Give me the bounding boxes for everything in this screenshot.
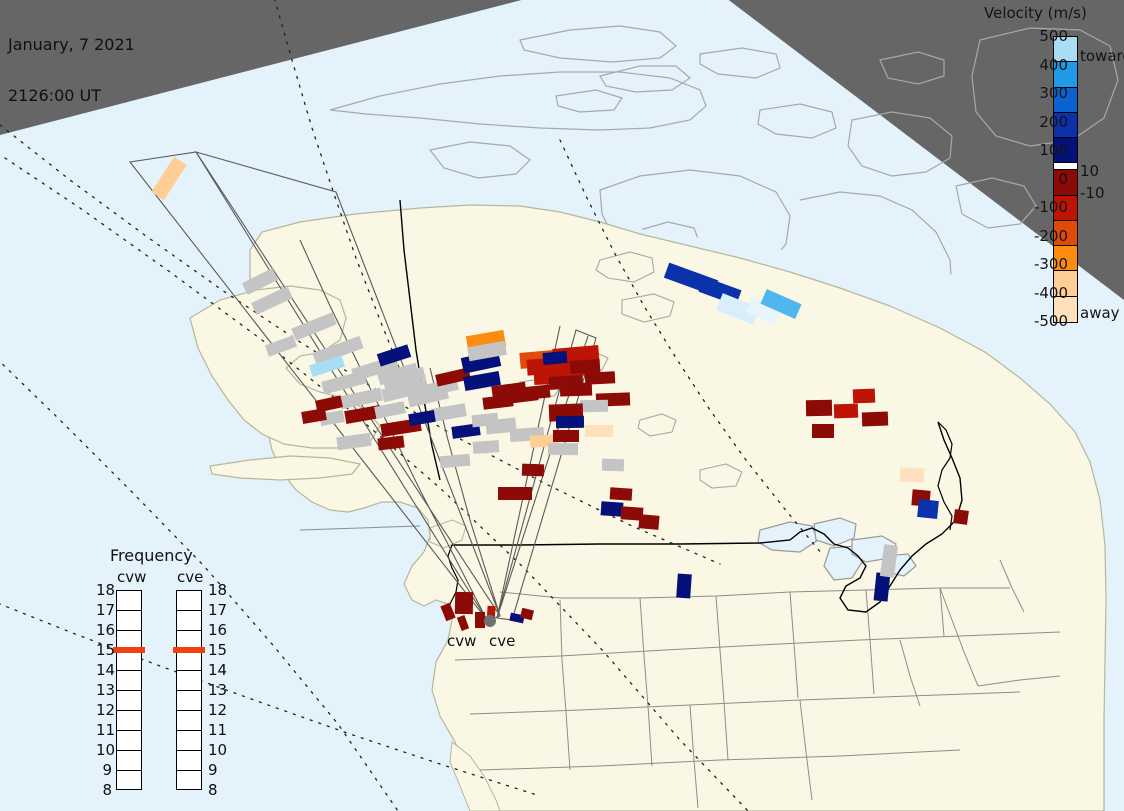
site-label-cve: cve [489, 632, 515, 650]
frequency-segment [117, 751, 141, 771]
velocity-cell [917, 499, 939, 519]
frequency-segment [177, 771, 201, 791]
velocity-legend-title: Velocity (m/s) [984, 4, 1087, 22]
velocity-label-away: away [1080, 304, 1120, 322]
frequency-tick-cvw-9: 9 [96, 761, 112, 779]
velocity-cell [475, 612, 485, 628]
frequency-tick-cvw-10: 10 [96, 741, 112, 759]
frequency-tick-cvw-16: 16 [96, 621, 112, 639]
velocity-cell [610, 487, 633, 501]
frequency-legend: Frequency cvw18171615141312111098cve1817… [96, 546, 246, 786]
frequency-tick-cve-8: 8 [208, 781, 218, 799]
velocity-tick--400: -400 [1034, 284, 1068, 302]
frequency-segment [117, 771, 141, 791]
velocity-tick-500: 500 [1039, 27, 1068, 45]
frequency-segment [117, 591, 141, 611]
frequency-tick-cvw-17: 17 [96, 601, 112, 619]
velocity-legend: Velocity (m/s) 5004003002001000-100-200-… [978, 2, 1124, 332]
velocity-cell [834, 404, 858, 419]
velocity-cell [556, 416, 584, 428]
frequency-segment [177, 691, 201, 711]
frequency-column-label-cvw: cvw [117, 568, 146, 586]
groundscatter-cell [548, 443, 578, 456]
velocity-cell [953, 509, 969, 525]
velocity-cell [853, 389, 875, 404]
frequency-tick-cve-15: 15 [208, 641, 227, 659]
velocity-label-minus10: -10 [1080, 184, 1105, 202]
frequency-tick-cve-10: 10 [208, 741, 227, 759]
velocity-tick--200: -200 [1034, 227, 1068, 245]
frequency-tick-cve-16: 16 [208, 621, 227, 639]
frequency-tick-cve-11: 11 [208, 721, 227, 739]
frequency-tick-cve-18: 18 [208, 581, 227, 599]
frequency-tick-cve-13: 13 [208, 681, 227, 699]
velocity-cell [543, 351, 568, 365]
frequency-segment [117, 731, 141, 751]
frequency-marker-cvw [113, 647, 145, 653]
frequency-segment [117, 691, 141, 711]
timestamp: January, 7 2021 2126:00 UT [8, 2, 135, 138]
timestamp-date: January, 7 2021 [8, 36, 135, 53]
frequency-marker-cve [173, 647, 205, 653]
frequency-segment [177, 611, 201, 631]
velocity-cell [812, 424, 834, 438]
velocity-tick-0: 0 [1058, 170, 1068, 188]
superdarn-map-view: January, 7 2021 2126:00 UT Velocity (m/s… [0, 0, 1124, 811]
velocity-cell [455, 592, 473, 614]
velocity-cell [601, 501, 624, 517]
frequency-segment [177, 711, 201, 731]
velocity-cell [900, 467, 925, 482]
site-label-cvw: cvw [447, 632, 476, 650]
frequency-tick-cve-14: 14 [208, 661, 227, 679]
frequency-segment [177, 751, 201, 771]
velocity-tick-300: 300 [1039, 84, 1068, 102]
velocity-cell [638, 514, 659, 530]
groundscatter-cell [602, 459, 624, 472]
velocity-tick--300: -300 [1034, 255, 1068, 273]
velocity-tick-400: 400 [1039, 56, 1068, 74]
timestamp-time: 2126:00 UT [8, 87, 135, 104]
frequency-tick-cvw-13: 13 [96, 681, 112, 699]
frequency-tick-cve-12: 12 [208, 701, 227, 719]
frequency-tick-cvw-12: 12 [96, 701, 112, 719]
groundscatter-cell [473, 440, 500, 454]
frequency-tick-cvw-11: 11 [96, 721, 112, 739]
velocity-cell [553, 430, 579, 442]
velocity-label-toward: toward [1080, 47, 1124, 65]
frequency-segment [117, 671, 141, 691]
velocity-cell [806, 400, 832, 416]
frequency-tick-cve-9: 9 [208, 761, 218, 779]
frequency-segment [177, 651, 201, 671]
velocity-label-plus10: 10 [1080, 162, 1099, 180]
frequency-bar-cvw [116, 590, 142, 790]
groundscatter-cell [580, 400, 608, 412]
frequency-tick-cve-17: 17 [208, 601, 227, 619]
frequency-segment [117, 611, 141, 631]
frequency-tick-cvw-8: 8 [96, 781, 112, 799]
frequency-segment [117, 711, 141, 731]
frequency-tick-cvw-15: 15 [96, 641, 112, 659]
velocity-tick--100: -100 [1034, 198, 1068, 216]
frequency-segment [117, 651, 141, 671]
frequency-segment [177, 671, 201, 691]
frequency-legend-title: Frequency [110, 546, 193, 565]
velocity-cell [862, 412, 888, 427]
velocity-cell [498, 487, 532, 500]
radar-site-marker [484, 615, 496, 627]
velocity-tick--500: -500 [1034, 312, 1068, 330]
velocity-cell [676, 574, 692, 599]
frequency-tick-cvw-14: 14 [96, 661, 112, 679]
velocity-cell [570, 359, 601, 374]
frequency-segment [177, 731, 201, 751]
velocity-cell [585, 371, 616, 385]
velocity-cell [522, 464, 544, 477]
frequency-column-label-cve: cve [177, 568, 203, 586]
frequency-tick-cvw-18: 18 [96, 581, 112, 599]
velocity-cell [585, 425, 613, 437]
frequency-bar-cve [176, 590, 202, 790]
velocity-tick-100: 100 [1039, 141, 1068, 159]
frequency-segment [177, 591, 201, 611]
velocity-tick-200: 200 [1039, 113, 1068, 131]
